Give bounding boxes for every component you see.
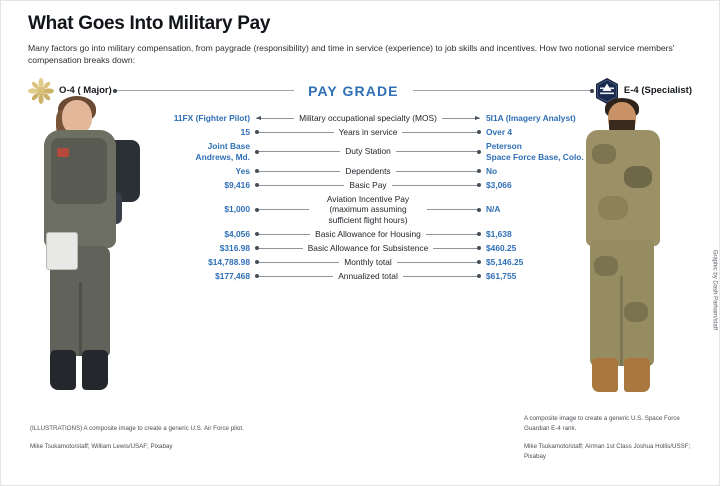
- connector-left: [256, 209, 309, 210]
- row-right-value: 5I1A (Imagery Analyst): [480, 113, 590, 124]
- paygrade-connector-right: [413, 90, 591, 91]
- connector-left: [256, 262, 339, 263]
- row-label: Monthly total: [344, 257, 391, 268]
- row-label: Dependents: [345, 166, 390, 177]
- connector-left: [256, 248, 303, 249]
- row-left-value: $177,468: [148, 271, 256, 282]
- guardian-boot-right: [624, 358, 650, 392]
- row-left-value: $9,416: [148, 180, 256, 191]
- connector-left: [256, 132, 334, 133]
- row-right-value: $3,066: [480, 180, 590, 191]
- connector-right: [433, 248, 480, 249]
- left-caption: (ILLUSTRATIONS) A composite image to cre…: [30, 424, 260, 452]
- connector-right: [396, 151, 480, 152]
- connector-left: [256, 234, 310, 235]
- row-connector-group: Basic Allowance for Subsistence: [256, 243, 480, 254]
- pilot-patch: [57, 148, 69, 157]
- paygrade-connector-left: [116, 90, 294, 91]
- connector-right: [442, 118, 480, 119]
- comparison-row: 15Years in serviceOver 4: [148, 127, 590, 138]
- comparison-row: 11FX (Fighter Pilot)Military occupationa…: [148, 113, 590, 124]
- row-connector-group: Dependents: [256, 166, 480, 177]
- guardian-camo-patch-4: [594, 256, 618, 276]
- pilot-kneeboard: [46, 232, 78, 270]
- connector-left: [256, 185, 344, 186]
- row-right-value: $61,755: [480, 271, 590, 282]
- row-label: Aviation Incentive Pay (maximum assuming…: [314, 194, 422, 226]
- right-caption-credit: Mike Tsukamoto/staff; Airman 1st Class J…: [524, 442, 700, 462]
- row-right-value: No: [480, 166, 590, 177]
- row-label: Duty Station: [345, 146, 391, 157]
- row-label: Basic Pay: [349, 180, 386, 191]
- connector-right: [427, 209, 480, 210]
- pilot-head: [62, 100, 92, 134]
- comparison-row: $14,788.98Monthly total$5,146.25: [148, 257, 590, 268]
- page-subtitle: Many factors go into military compensati…: [28, 42, 688, 67]
- row-left-value: $1,000: [148, 204, 256, 215]
- guardian-leg-divider: [620, 276, 623, 366]
- guardian-camo-patch-3: [598, 196, 628, 220]
- row-label: Basic Allowance for Housing: [315, 229, 421, 240]
- connector-right: [402, 132, 480, 133]
- connector-right: [396, 171, 480, 172]
- right-caption-description: A composite image to create a generic U.…: [524, 414, 700, 434]
- comparison-rows: 11FX (Fighter Pilot)Military occupationa…: [148, 113, 590, 284]
- row-connector-group: Basic Pay: [256, 180, 480, 191]
- air-force-pilot-photo: [24, 96, 156, 411]
- row-label: Years in service: [339, 127, 398, 138]
- pilot-leg-divider: [79, 282, 82, 356]
- row-connector-group: Basic Allowance for Housing: [256, 229, 480, 240]
- graphic-credit: Graphic by Dash Parham/staff: [711, 250, 717, 330]
- comparison-row: $316.98Basic Allowance for Subsistence$4…: [148, 243, 590, 254]
- row-right-value: $1,638: [480, 229, 590, 240]
- comparison-row: Joint BaseAndrews, Md.Duty StationPeters…: [148, 141, 590, 163]
- row-left-value: $14,788.98: [148, 257, 256, 268]
- row-left-value: 11FX (Fighter Pilot): [148, 113, 256, 124]
- comparison-row: $177,468Annualized total$61,755: [148, 271, 590, 282]
- pilot-boot-left: [50, 350, 76, 390]
- guardian-boot-left: [592, 358, 618, 392]
- header: What Goes Into Military Pay Many factors…: [0, 0, 720, 67]
- row-connector-group: Duty Station: [256, 146, 480, 157]
- row-label: Military occupational specialty (MOS): [299, 113, 437, 124]
- connector-left: [256, 276, 333, 277]
- guardian-camo-patch-2: [624, 166, 652, 188]
- row-left-value: $316.98: [148, 243, 256, 254]
- guardian-camo-patch-1: [592, 144, 616, 164]
- comparison-row: $1,000Aviation Incentive Pay (maximum as…: [148, 194, 590, 226]
- connector-right: [426, 234, 480, 235]
- row-right-value: PetersonSpace Force Base, Colo.: [480, 141, 590, 163]
- row-connector-group: Years in service: [256, 127, 480, 138]
- connector-right: [397, 262, 480, 263]
- pilot-boot-right: [82, 350, 108, 390]
- connector-left: [256, 171, 340, 172]
- right-rank-label: E-4 (Specialist): [624, 85, 692, 96]
- row-connector-group: Annualized total: [256, 271, 480, 282]
- connector-right: [392, 185, 480, 186]
- row-left-value: $4,056: [148, 229, 256, 240]
- row-left-value: Joint BaseAndrews, Md.: [148, 141, 256, 163]
- row-label: Basic Allowance for Subsistence: [308, 243, 429, 254]
- row-right-value: $5,146.25: [480, 257, 590, 268]
- connector-left: [256, 118, 294, 119]
- right-caption: A composite image to create a generic U.…: [524, 414, 700, 462]
- row-connector-group: Military occupational specialty (MOS): [256, 113, 480, 124]
- row-right-value: $460.25: [480, 243, 590, 254]
- row-left-value: Yes: [148, 166, 256, 177]
- comparison-row: YesDependentsNo: [148, 166, 590, 177]
- paygrade-title: PAY GRADE: [298, 83, 409, 99]
- row-connector-group: Monthly total: [256, 257, 480, 268]
- page-title: What Goes Into Military Pay: [28, 14, 692, 35]
- left-rank-label: O-4 ( Major): [59, 85, 112, 96]
- left-caption-description: (ILLUSTRATIONS) A composite image to cre…: [30, 424, 260, 434]
- comparison-row: $4,056Basic Allowance for Housing$1,638: [148, 229, 590, 240]
- comparison-row: $9,416Basic Pay$3,066: [148, 180, 590, 191]
- connector-right: [403, 276, 480, 277]
- guardian-camo-patch-5: [624, 302, 648, 322]
- left-caption-credit: Mike Tsukamoto/staff; William Lewis/USAF…: [30, 442, 260, 452]
- infographic-page: What Goes Into Military Pay Many factors…: [0, 0, 720, 486]
- connector-left: [256, 151, 340, 152]
- row-right-value: Over 4: [480, 127, 590, 138]
- row-left-value: 15: [148, 127, 256, 138]
- row-label: Annualized total: [338, 271, 398, 282]
- row-connector-group: Aviation Incentive Pay (maximum assuming…: [256, 194, 480, 226]
- row-right-value: N/A: [480, 204, 590, 215]
